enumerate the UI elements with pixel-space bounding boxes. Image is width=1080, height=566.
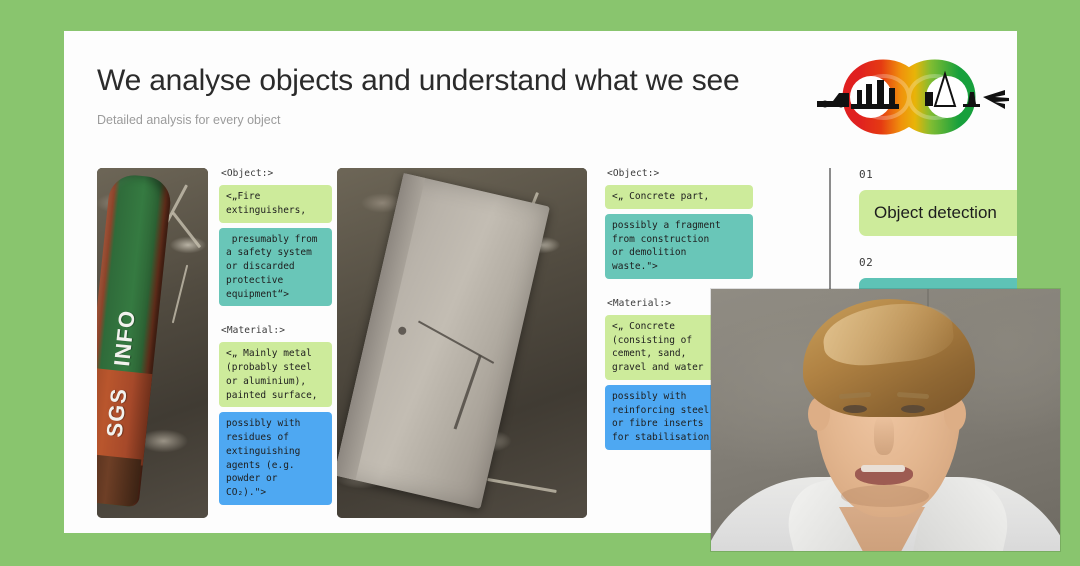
step-number-02: 02 xyxy=(859,256,1017,269)
fire-extinguisher-photo: INFO SGS xyxy=(97,168,208,518)
object-tag-left: <Object:> xyxy=(221,168,332,179)
annotation-column-left: <Object:> <„Fire extinguishers, presumab… xyxy=(219,168,332,510)
material-tag-left: <Material:> xyxy=(221,325,332,336)
presenter-eye-right xyxy=(901,405,925,413)
step-01: 01 Object detection xyxy=(859,168,1017,236)
presenter-webcam-overlay[interactable] xyxy=(711,289,1060,551)
step-label-01[interactable]: Object detection xyxy=(859,190,1017,236)
object-green-box-right: <„ Concrete part, xyxy=(605,185,753,209)
step-number-01: 01 xyxy=(859,168,1017,181)
infinity-loop-recycling-logo xyxy=(807,48,1012,146)
object-teal-box-right: possibly a fragment from construction or… xyxy=(605,214,753,279)
material-green-box-left: <„ Mainly metal (probably steel or alumi… xyxy=(219,342,332,407)
object-teal-box-left: presumably from a safety system or disca… xyxy=(219,228,332,307)
presenter-teeth xyxy=(861,465,905,472)
object-green-box-left: <„Fire extinguishers, xyxy=(219,185,332,223)
extinguisher-label-info: INFO xyxy=(108,297,142,379)
object-tag-right: <Object:> xyxy=(607,168,753,179)
material-blue-box-left: possibly with residues of extinguishing … xyxy=(219,412,332,505)
presenter-chin-shadow xyxy=(841,485,929,507)
concrete-fragment-photo xyxy=(337,168,587,518)
presenter-eye-left xyxy=(843,405,867,413)
presenter-nose xyxy=(874,415,894,455)
